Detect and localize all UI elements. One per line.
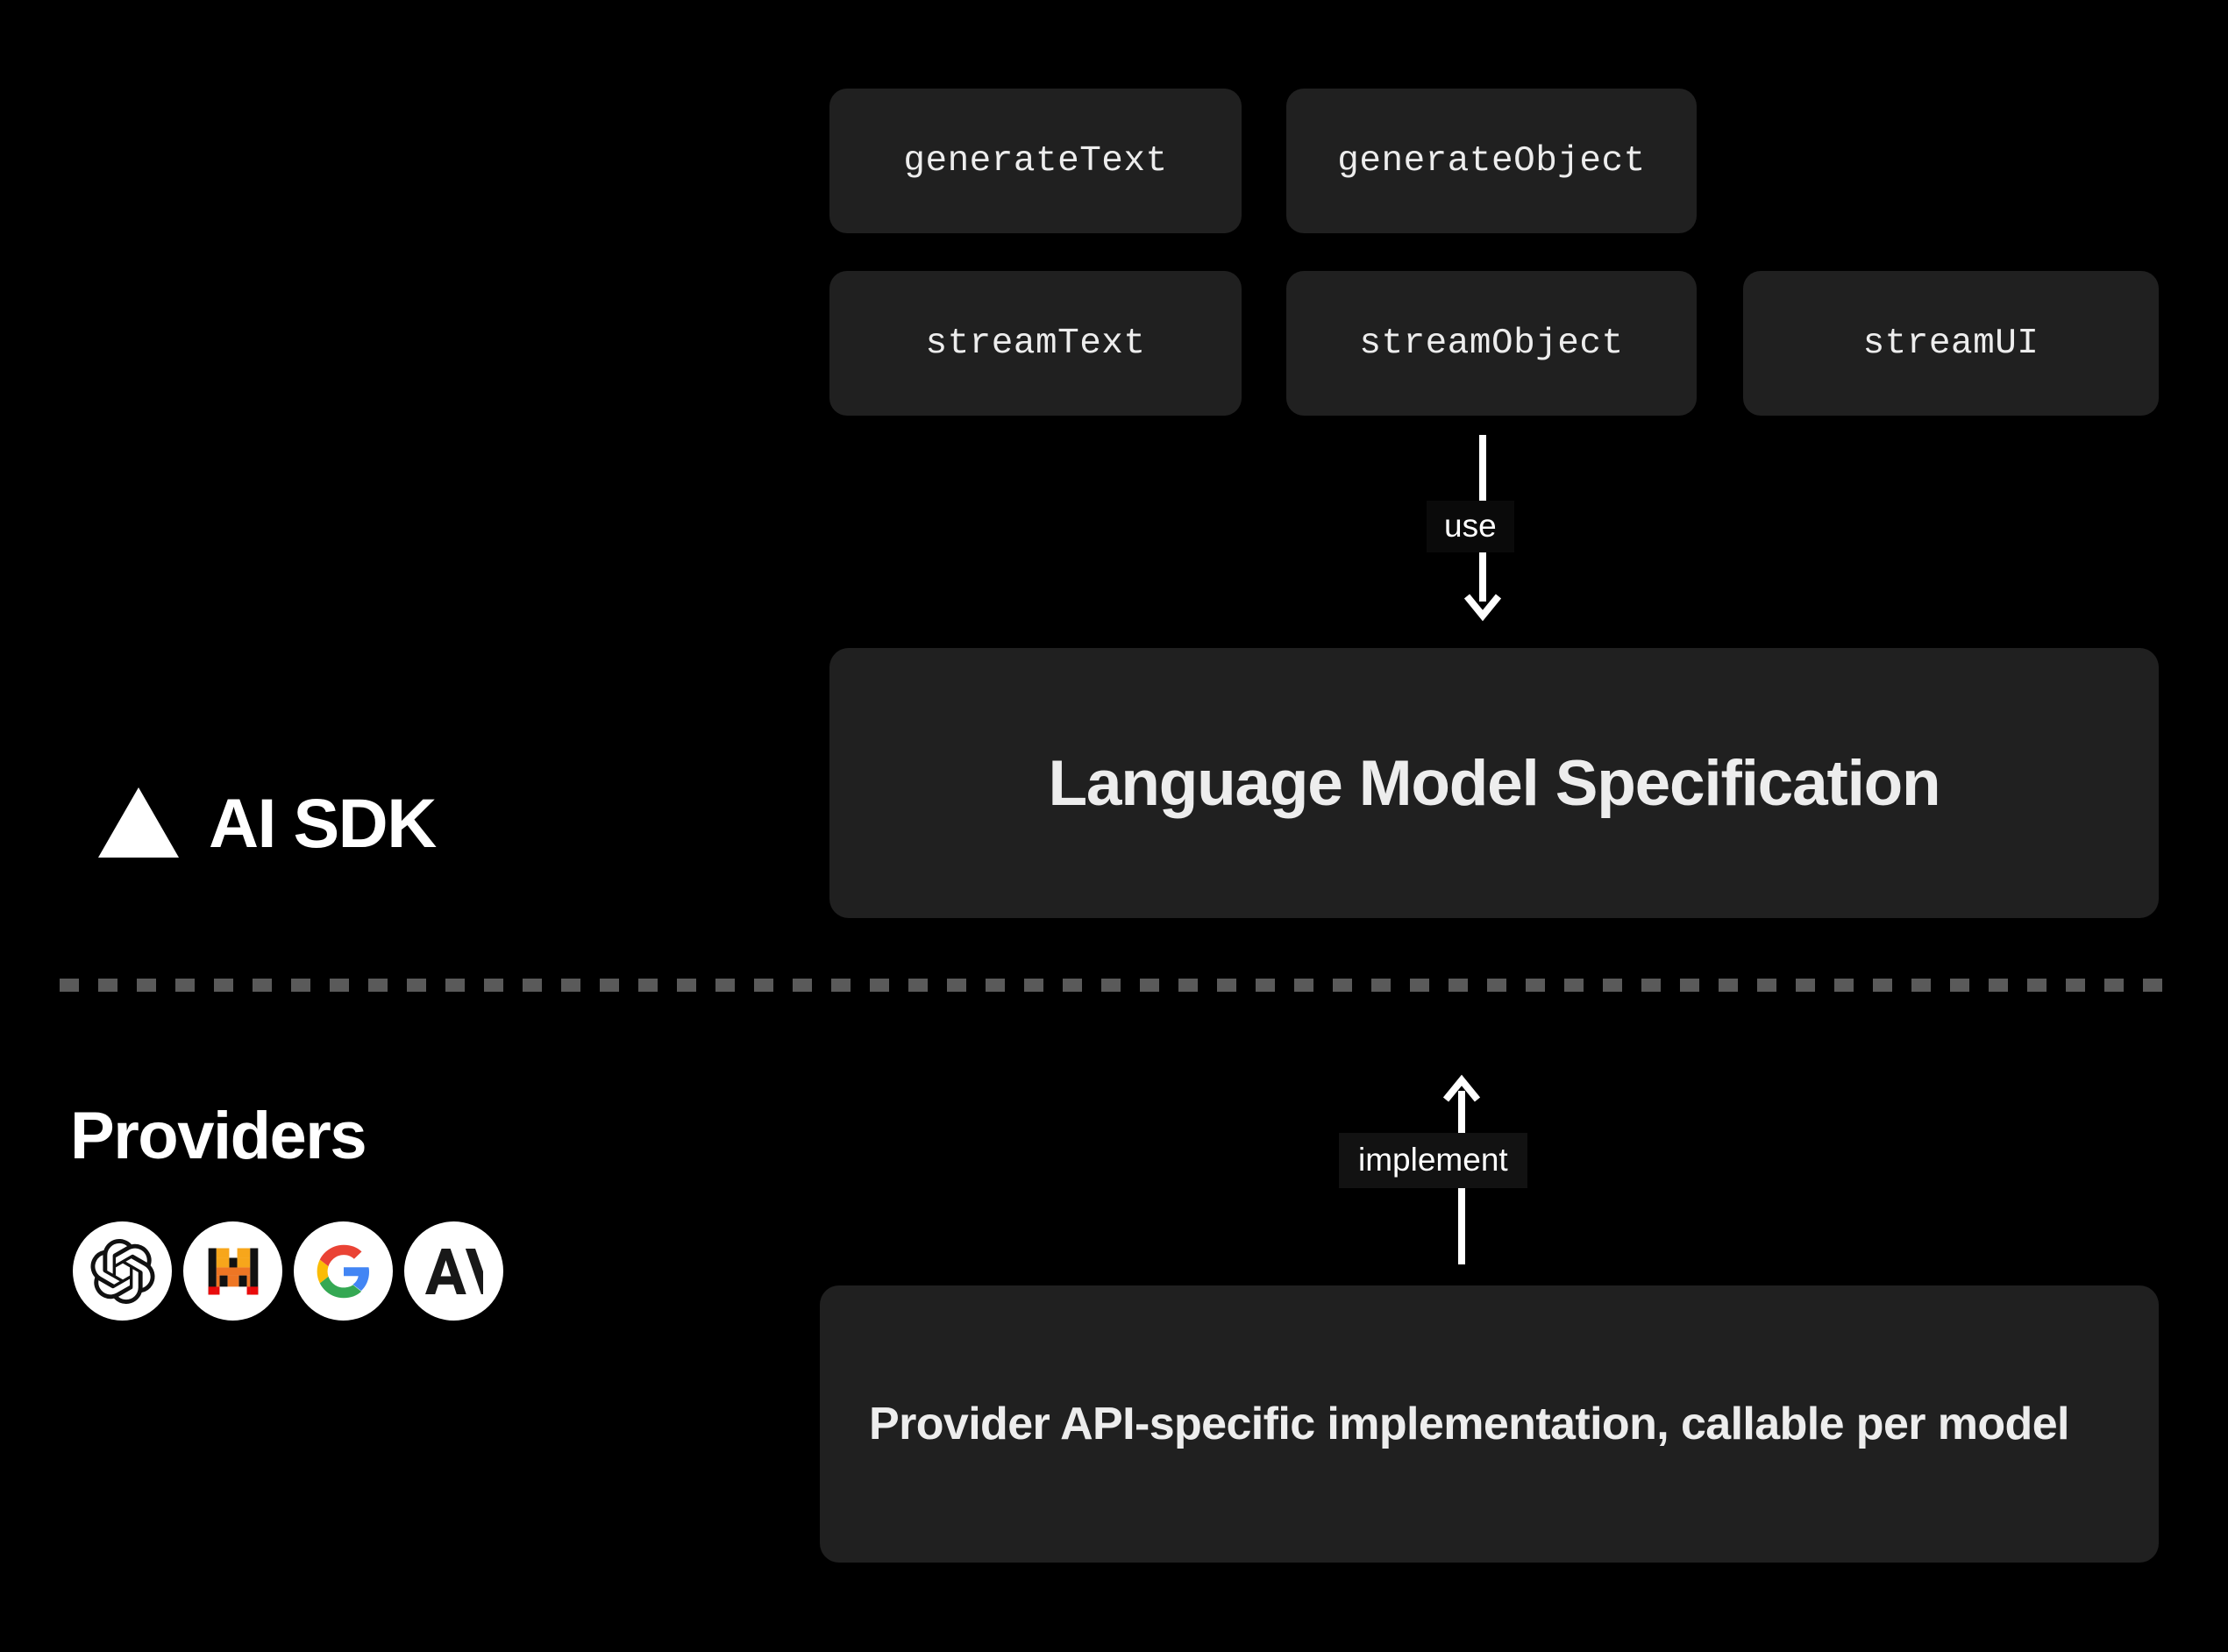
function-card-label: streamText: [925, 324, 1145, 364]
language-model-specification-box[interactable]: Language Model Specification: [829, 648, 2159, 918]
edge-label-implement: implement: [1339, 1133, 1527, 1188]
provider-implementation-label: Provider API-specific implementation, ca…: [869, 1395, 2069, 1454]
openai-glyph: [90, 1239, 155, 1304]
google-icon[interactable]: [294, 1221, 393, 1321]
mistral-icon[interactable]: [183, 1221, 282, 1321]
function-card-stream-text[interactable]: streamText: [829, 271, 1242, 416]
provider-logo-list: [73, 1221, 503, 1321]
anthropic-icon[interactable]: [404, 1221, 503, 1321]
language-model-specification-label: Language Model Specification: [1049, 751, 1940, 815]
arrow-head: [1463, 589, 1502, 624]
brand-ai-sdk: AI SDK: [98, 787, 436, 858]
edge-label-use: use: [1427, 501, 1514, 552]
layer-divider: [60, 979, 2175, 992]
function-card-stream-ui[interactable]: streamUI: [1743, 271, 2159, 416]
arrow-head: [1442, 1072, 1481, 1107]
function-card-generate-text[interactable]: generateText: [829, 89, 1242, 233]
vercel-triangle-icon: [98, 787, 179, 858]
mistral-glyph: [205, 1243, 261, 1300]
provider-implementation-box[interactable]: Provider API-specific implementation, ca…: [820, 1285, 2159, 1563]
providers-title: Providers: [70, 1103, 366, 1170]
function-card-label: streamUI: [1863, 324, 2039, 364]
function-card-label: generateObject: [1337, 141, 1645, 182]
function-card-generate-object[interactable]: generateObject: [1286, 89, 1697, 233]
anthropic-glyph: [425, 1246, 483, 1297]
openai-icon[interactable]: [73, 1221, 172, 1321]
function-card-label: generateText: [903, 141, 1167, 182]
function-card-stream-object[interactable]: streamObject: [1286, 271, 1697, 416]
diagram-canvas: generateText generateObject streamText s…: [0, 0, 2228, 1652]
brand-ai-sdk-label: AI SDK: [209, 788, 436, 858]
google-glyph: [315, 1243, 373, 1300]
function-card-label: streamObject: [1359, 324, 1623, 364]
